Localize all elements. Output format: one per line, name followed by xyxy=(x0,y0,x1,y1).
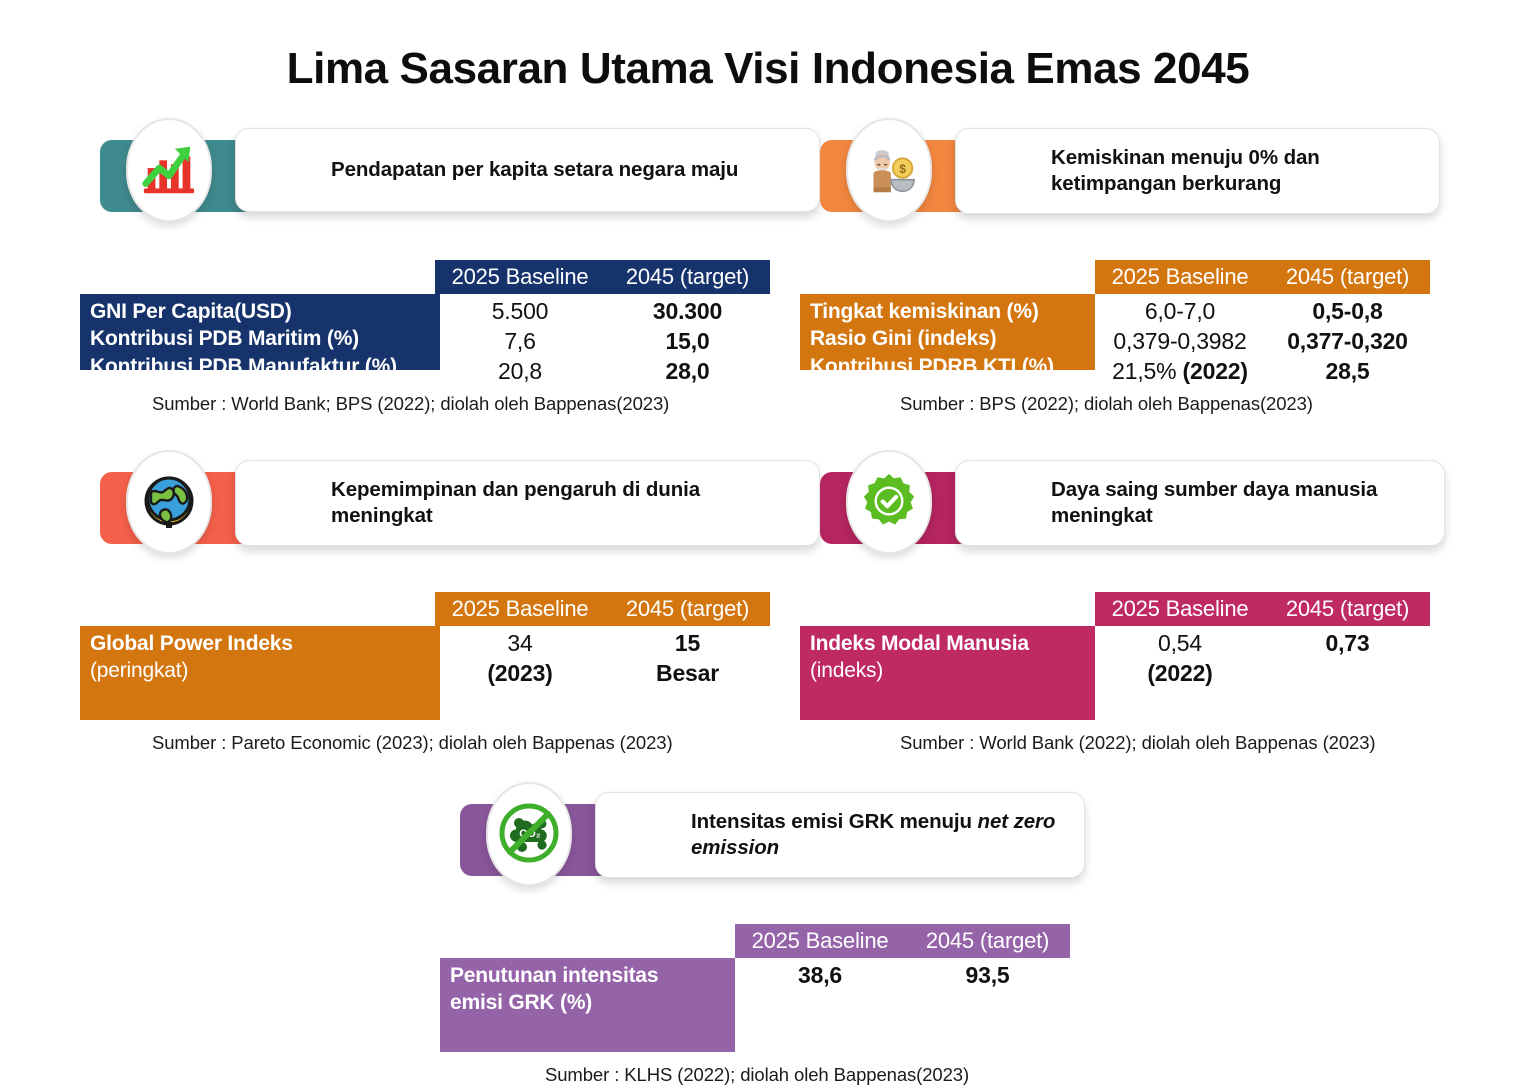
table-row: (2023) Besar xyxy=(435,659,770,689)
table-row: 0,54 0,73 xyxy=(1095,629,1430,659)
row-label: Kontribusi PDB Maritim (%) xyxy=(90,325,440,352)
goal-card-3: 3 Kepemimpinan dan pengaruh di dunia men… xyxy=(80,450,780,570)
goal-2-banner: 2 Kemiskinan menuju 0% dan ketimpangan b… xyxy=(800,118,1460,238)
row-label: Penutunan intensitas xyxy=(450,962,735,989)
goal-2-row-labels: Tingkat kemiskinan (%) Rasio Gini (indek… xyxy=(800,294,1095,370)
row-label: Indeks Modal Manusia xyxy=(810,630,1095,657)
baseline-value: 5.500 xyxy=(435,297,605,327)
goal-5-table-header: 2025 Baseline 2045 (target) xyxy=(735,924,1070,958)
header-baseline: 2025 Baseline xyxy=(435,264,605,290)
goal-4-values: 0,54 0,73 (2022) xyxy=(1095,626,1430,689)
row-label: Kontribusi PDRB KTI (%) xyxy=(810,353,1095,380)
target-value: 93,5 xyxy=(905,961,1070,991)
header-baseline: 2025 Baseline xyxy=(1095,596,1265,622)
goal-1-values: 5.500 30.300 7,6 15,0 20,8 28,0 xyxy=(435,294,770,387)
target-value-note: Besar xyxy=(605,659,770,689)
baseline-value: 20,8 xyxy=(435,357,605,387)
goal-1-source: Sumber : World Bank; BPS (2022); diolah … xyxy=(152,393,669,415)
table-row: 21,5% (2022) 28,5 xyxy=(1095,357,1430,387)
goal-4-banner: 4 Daya saing sumber daya manusia meningk… xyxy=(800,450,1460,570)
goal-3-pill[interactable]: Kepemimpinan dan pengaruh di dunia menin… xyxy=(235,460,820,546)
header-target: 2045 (target) xyxy=(605,264,770,290)
table-row: 20,8 28,0 xyxy=(435,357,770,387)
globe-icon xyxy=(126,450,212,554)
baseline-value: 34 xyxy=(435,629,605,659)
svg-text:$: $ xyxy=(899,163,906,176)
goal-5-source: Sumber : KLHS (2022); diolah oleh Bappen… xyxy=(545,1064,969,1086)
header-baseline: 2025 Baseline xyxy=(735,928,905,954)
poverty-person-coin-icon: $ xyxy=(846,118,932,222)
row-label: Rasio Gini (indeks) xyxy=(810,325,1095,352)
baseline-value: 6,0-7,0 xyxy=(1095,297,1265,327)
target-value-note xyxy=(1265,659,1430,689)
goal-3-row-labels: Global Power Indeks (peringkat) xyxy=(80,626,440,720)
goal-2-pill[interactable]: Kemiskinan menuju 0% dan ketimpangan ber… xyxy=(955,128,1440,214)
table-row: (2022) xyxy=(1095,659,1430,689)
header-target: 2045 (target) xyxy=(1265,596,1430,622)
row-label: Tingkat kemiskinan (%) xyxy=(810,298,1095,325)
goal-4-row-labels: Indeks Modal Manusia (indeks) xyxy=(800,626,1095,720)
table-row: 38,6 93,5 xyxy=(735,961,1070,991)
table-row: 6,0-7,0 0,5-0,8 xyxy=(1095,297,1430,327)
baseline-value: 0,54 xyxy=(1095,629,1265,659)
header-target: 2045 (target) xyxy=(905,928,1070,954)
baseline-value-note: (2023) xyxy=(435,659,605,689)
row-label-sub: (peringkat) xyxy=(90,657,440,684)
goal-4-pill[interactable]: Daya saing sumber daya manusia meningkat xyxy=(955,460,1445,546)
header-target: 2045 (target) xyxy=(1265,264,1430,290)
goal-1-pill[interactable]: Pendapatan per kapita setara negara maju xyxy=(235,128,820,212)
green-check-badge-icon xyxy=(846,450,932,554)
goal-2-values: 6,0-7,0 0,5-0,8 0,379-0,3982 0,377-0,320… xyxy=(1095,294,1430,387)
goal-4-title: Daya saing sumber daya manusia meningkat xyxy=(1051,477,1426,529)
goal-2-table-header: 2025 Baseline 2045 (target) xyxy=(1095,260,1430,294)
goal-5-row-labels: Penutunan intensitas emisi GRK (%) xyxy=(440,958,735,1052)
goal-4-source: Sumber : World Bank (2022); diolah oleh … xyxy=(900,732,1375,754)
baseline-value: 38,6 xyxy=(735,961,905,991)
infographic-root: Lima Sasaran Utama Visi Indonesia Emas 2… xyxy=(0,0,1536,1086)
goal-1-table-header: 2025 Baseline 2045 (target) xyxy=(435,260,770,294)
target-value: 28,5 xyxy=(1265,357,1430,387)
goal-1-row-labels: GNI Per Capita(USD) Kontribusi PDB Marit… xyxy=(80,294,440,370)
header-baseline: 2025 Baseline xyxy=(1095,264,1265,290)
row-label: Kontribusi PDB Manufaktur (%) xyxy=(90,353,440,380)
page-title: Lima Sasaran Utama Visi Indonesia Emas 2… xyxy=(0,44,1536,94)
header-baseline: 2025 Baseline xyxy=(435,596,605,622)
goal-5-title: Intensitas emisi GRK menuju net zero emi… xyxy=(691,809,1066,861)
goal-3-values: 34 15 (2023) Besar xyxy=(435,626,770,689)
table-row: 5.500 30.300 xyxy=(435,297,770,327)
baseline-value: 0,379-0,3982 xyxy=(1095,327,1265,357)
goal-2-title: Kemiskinan menuju 0% dan ketimpangan ber… xyxy=(1051,145,1421,197)
target-value: 0,73 xyxy=(1265,629,1430,659)
goal-3-source: Sumber : Pareto Economic (2023); diolah … xyxy=(152,732,673,754)
goal-5-pill[interactable]: Intensitas emisi GRK menuju net zero emi… xyxy=(595,792,1085,878)
goal-card-1: 1 Pendapatan per kapita setara negara ma… xyxy=(80,118,780,238)
goal-card-5: 5 Intensitas emisi GRK menuju net zero e… xyxy=(440,782,1120,902)
no-co2-emission-icon: CO₂ xyxy=(486,782,572,886)
target-value: 30.300 xyxy=(605,297,770,327)
target-value: 15,0 xyxy=(605,327,770,357)
growth-chart-icon xyxy=(126,118,212,222)
goal-5-values: 38,6 93,5 xyxy=(735,958,1070,991)
goal-card-2: 2 Kemiskinan menuju 0% dan ketimpangan b… xyxy=(800,118,1460,238)
baseline-value: 21,5% (2022) xyxy=(1095,357,1265,387)
table-row: 7,6 15,0 xyxy=(435,327,770,357)
target-value: 0,5-0,8 xyxy=(1265,297,1430,327)
target-value: 28,0 xyxy=(605,357,770,387)
row-label: Global Power Indeks xyxy=(90,630,440,657)
goal-3-title: Kepemimpinan dan pengaruh di dunia menin… xyxy=(331,477,795,529)
row-label: GNI Per Capita(USD) xyxy=(90,298,440,325)
row-label-sub: emisi GRK (%) xyxy=(450,989,735,1016)
goal-4-table-header: 2025 Baseline 2045 (target) xyxy=(1095,592,1430,626)
target-value: 15 xyxy=(605,629,770,659)
header-target: 2045 (target) xyxy=(605,596,770,622)
table-row: 34 15 xyxy=(435,629,770,659)
goal-1-banner: 1 Pendapatan per kapita setara negara ma… xyxy=(80,118,780,238)
target-value: 0,377-0,320 xyxy=(1265,327,1430,357)
goal-5-banner: 5 Intensitas emisi GRK menuju net zero e… xyxy=(440,782,1120,902)
baseline-value: 7,6 xyxy=(435,327,605,357)
table-row: 0,379-0,3982 0,377-0,320 xyxy=(1095,327,1430,357)
goal-1-title: Pendapatan per kapita setara negara maju xyxy=(331,157,738,183)
goal-5-title-pre: Intensitas emisi GRK menuju xyxy=(691,810,978,833)
baseline-value-note: (2022) xyxy=(1095,659,1265,689)
goal-card-4: 4 Daya saing sumber daya manusia meningk… xyxy=(800,450,1460,570)
goal-3-table-header: 2025 Baseline 2045 (target) xyxy=(435,592,770,626)
row-label-sub: (indeks) xyxy=(810,657,1095,684)
goal-2-source: Sumber : BPS (2022); diolah oleh Bappena… xyxy=(900,393,1313,415)
goal-3-banner: 3 Kepemimpinan dan pengaruh di dunia men… xyxy=(80,450,780,570)
